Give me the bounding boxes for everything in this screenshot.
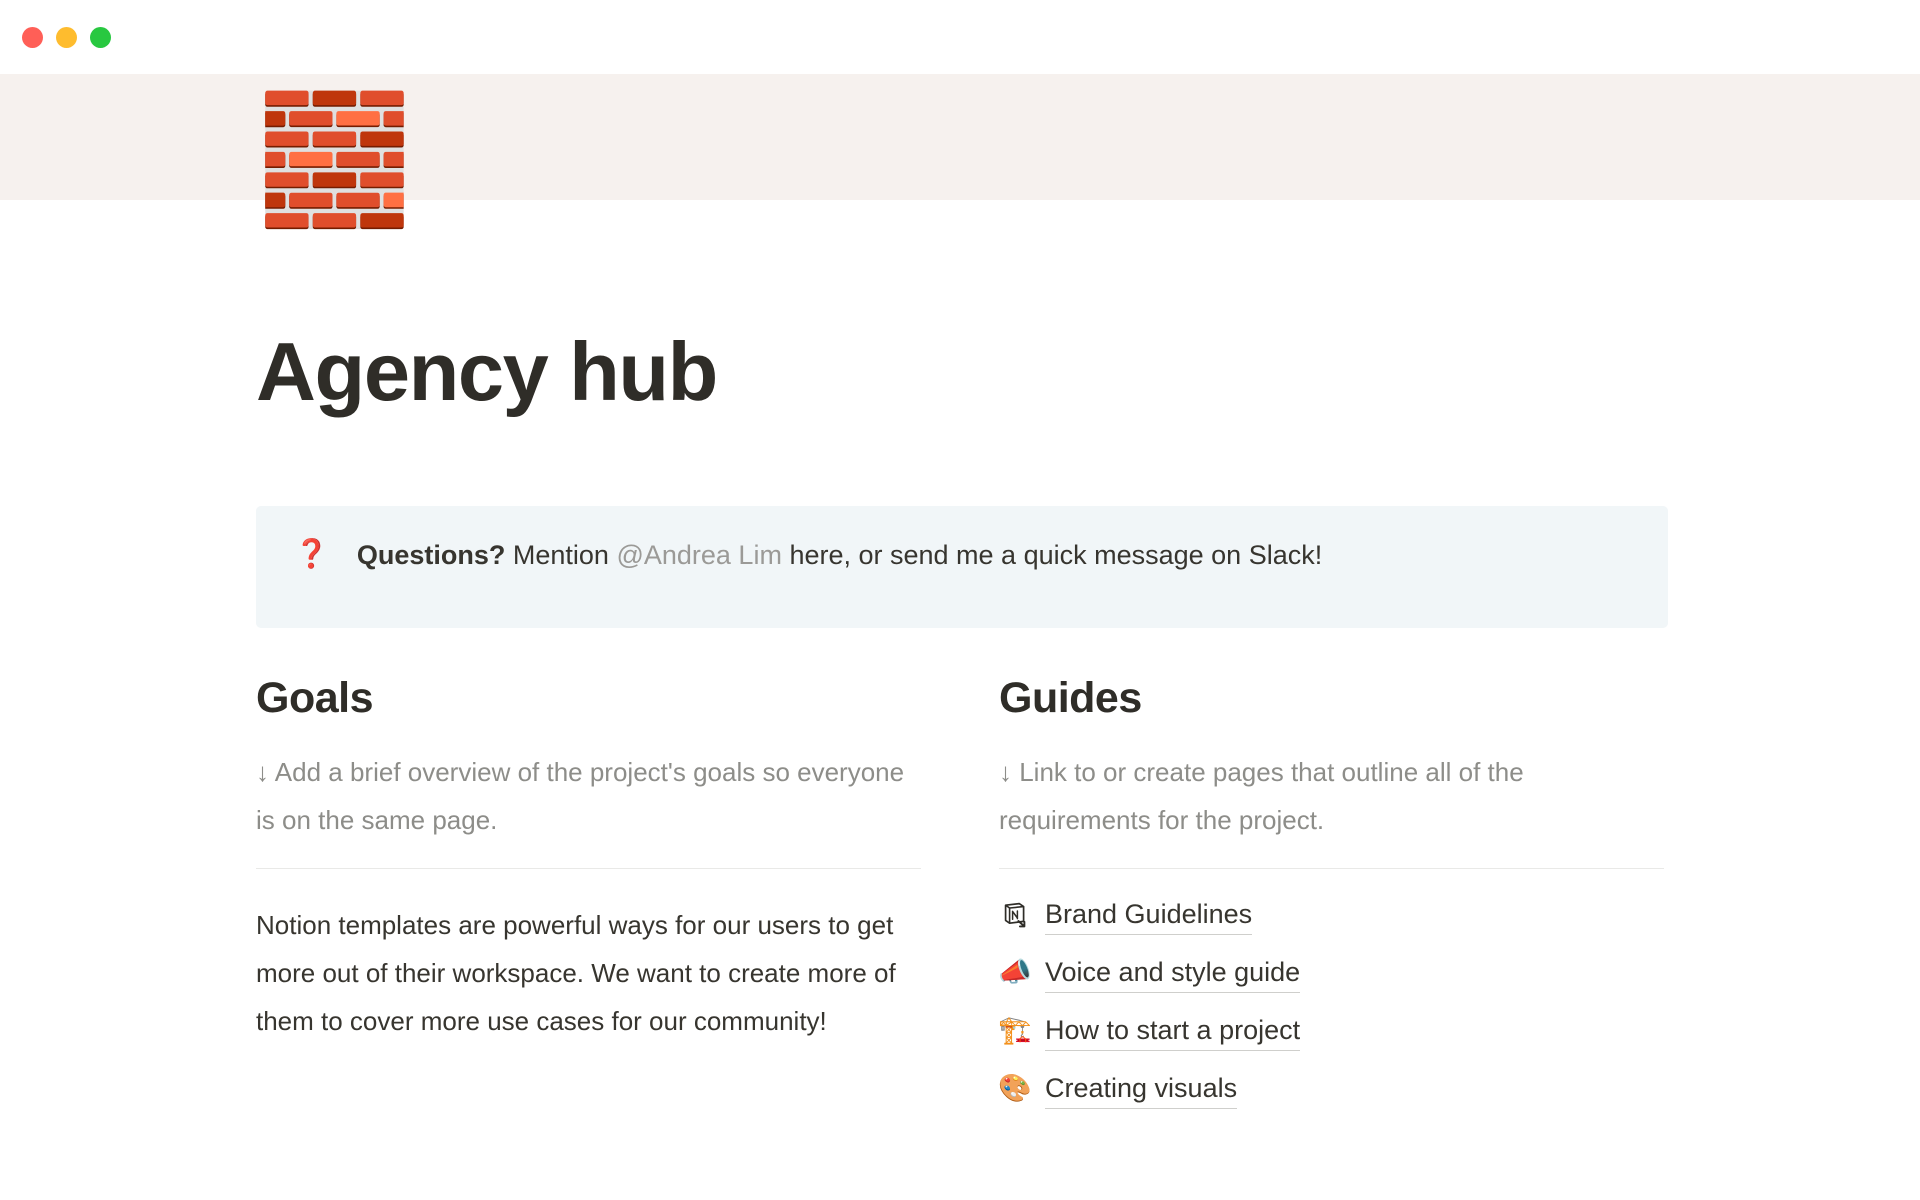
traffic-light-controls (22, 27, 111, 48)
brick-emoji[interactable]: 🧱 (256, 85, 406, 235)
goals-heading[interactable]: Goals (256, 673, 921, 725)
guides-hint: ↓ Link to or create pages that outline a… (999, 748, 1664, 844)
guide-link-label[interactable]: Voice and style guide (1045, 953, 1300, 993)
callout-text: Questions? Mention @Andrea Lim here, or … (357, 537, 1322, 572)
close-button[interactable] (22, 27, 43, 48)
guide-link-label[interactable]: How to start a project (1045, 1011, 1300, 1051)
guides-column: Guides ↓ Link to or create pages that ou… (999, 673, 1664, 1127)
maximize-button[interactable] (90, 27, 111, 48)
guide-link-how-to-start-a-project[interactable]: 🏗️ How to start a project (999, 1011, 1664, 1051)
guide-link-voice-and-style-guide[interactable]: 📣 Voice and style guide (999, 953, 1664, 993)
callout-bold-label: Questions? (357, 540, 506, 570)
construction-crane-emoji: 🏗️ (999, 1014, 1031, 1048)
question-mark-icon: ❓ (290, 537, 329, 571)
guides-link-list: Brand Guidelines 📣 Voice and style guide… (999, 895, 1664, 1109)
window-title-bar (0, 0, 1920, 74)
goals-hint: ↓ Add a brief overview of the project's … (256, 748, 921, 844)
guide-link-brand-guidelines[interactable]: Brand Guidelines (999, 895, 1664, 935)
guide-link-label[interactable]: Brand Guidelines (1045, 895, 1252, 935)
artist-palette-emoji: 🎨 (999, 1072, 1031, 1106)
guides-heading[interactable]: Guides (999, 673, 1664, 725)
goals-column: Goals ↓ Add a brief overview of the proj… (256, 673, 921, 1127)
two-column-layout: Goals ↓ Add a brief overview of the proj… (256, 673, 1664, 1127)
notion-page-link-icon (999, 901, 1031, 929)
callout-text-before-mention: Mention (505, 540, 616, 570)
megaphone-emoji: 📣 (999, 956, 1031, 990)
goals-paragraph[interactable]: Notion templates are powerful ways for o… (256, 901, 921, 1045)
callout-text-after-mention: here, or send me a quick message on Slac… (782, 540, 1322, 570)
guide-link-label[interactable]: Creating visuals (1045, 1069, 1237, 1109)
page-title[interactable]: Agency hub (256, 328, 1664, 415)
questions-callout[interactable]: ❓ Questions? Mention @Andrea Lim here, o… (256, 506, 1668, 628)
guides-divider (999, 868, 1664, 869)
guide-link-creating-visuals[interactable]: 🎨 Creating visuals (999, 1069, 1664, 1109)
mention-andrea-lim[interactable]: @Andrea Lim (616, 540, 781, 570)
goals-divider (256, 868, 921, 869)
minimize-button[interactable] (56, 27, 77, 48)
page-content: Agency hub ❓ Questions? Mention @Andrea … (0, 328, 1920, 1127)
